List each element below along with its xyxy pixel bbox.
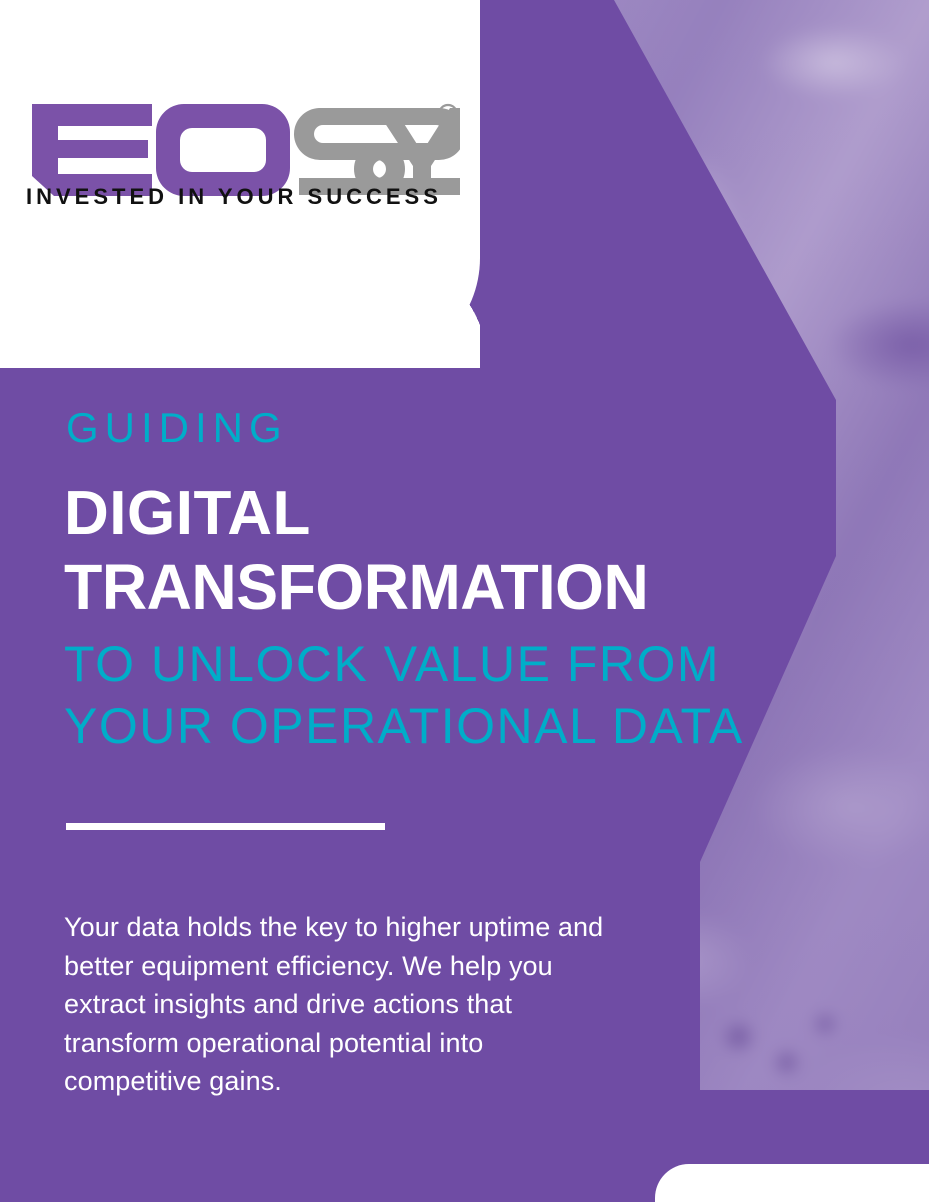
hero-headline-line-1: DIGITAL — [64, 483, 311, 545]
bottom-white-notch — [655, 1164, 929, 1202]
hero-eyebrow: GUIDING — [66, 407, 288, 449]
hero-subhead-line-2: YOUR OPERATIONAL DATA — [64, 701, 744, 751]
hero-body-copy: Your data holds the key to higher uptime… — [64, 908, 624, 1101]
hero-headline-line-2: TRANSFORMATION — [64, 555, 648, 619]
hero-divider — [66, 823, 385, 830]
logo-letter-e — [32, 104, 152, 196]
brand-tagline: INVESTED IN YOUR SUCCESS — [26, 184, 442, 210]
bottom-purple-bar — [690, 1090, 929, 1166]
cover-page: R INVESTED IN YOUR SUCCESS GUIDING DIGIT… — [0, 0, 929, 1202]
logo-letter-o — [156, 104, 290, 196]
hero-subhead-line-1: TO UNLOCK VALUE FROM — [64, 639, 720, 689]
registered-glyph: R — [444, 109, 452, 121]
